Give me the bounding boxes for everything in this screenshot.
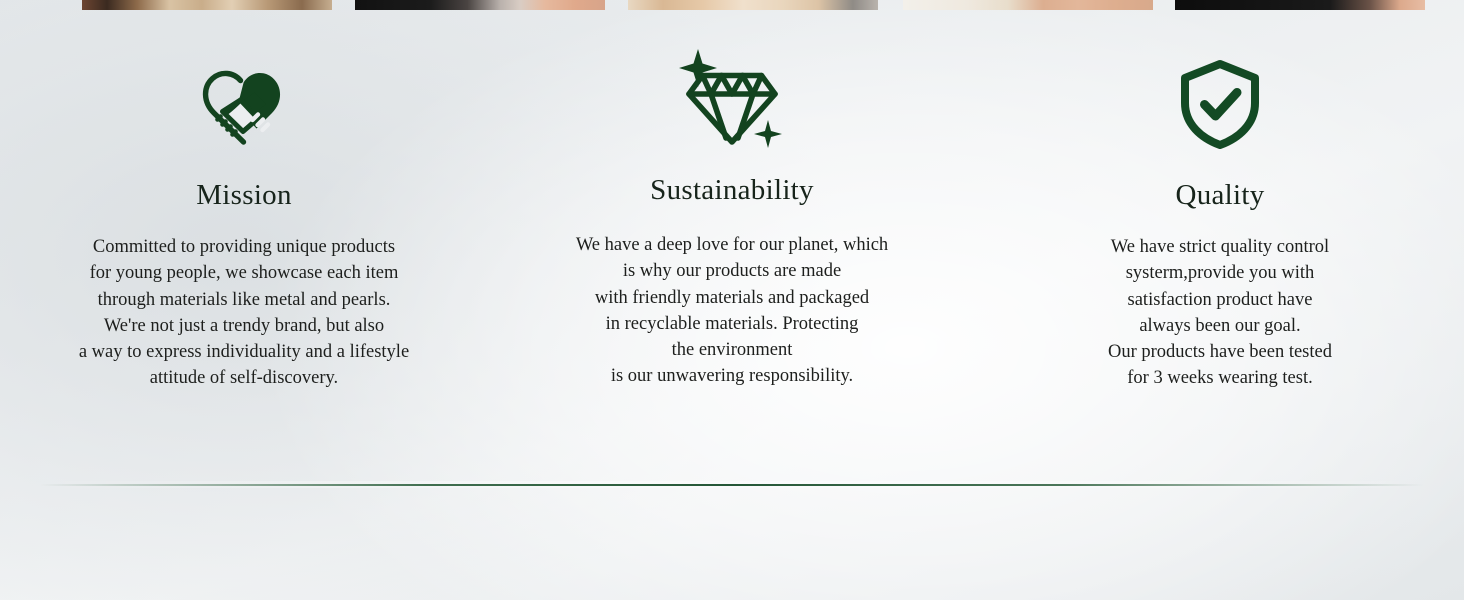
product-photo-strip: [0, 0, 1464, 12]
product-photo-thumbnail-5[interactable]: [1175, 0, 1425, 10]
product-photo-3: [628, 0, 878, 10]
product-photo-5: [1175, 0, 1425, 10]
product-photo-4: [903, 0, 1153, 10]
product-photo-thumbnail-2[interactable]: [355, 0, 605, 10]
feature-title: Mission: [196, 181, 292, 210]
section-divider: [40, 484, 1424, 486]
about-features-section: Mission Committed to providing unique pr…: [0, 0, 1464, 600]
handshake-heart-icon: [196, 54, 292, 154]
product-photo-thumbnail-1[interactable]: [82, 0, 332, 10]
diamond-sparkle-icon: [676, 50, 788, 150]
feature-card-sustainability: Sustainability We have a deep love for o…: [488, 52, 976, 392]
feature-description: We have a deep love for our planet, whic…: [576, 232, 888, 390]
product-photo-2: [355, 0, 605, 10]
product-photo-thumbnail-4[interactable]: [903, 0, 1153, 10]
product-photo-thumbnail-3[interactable]: [628, 0, 878, 10]
shield-check-icon: [1177, 54, 1263, 154]
feature-title: Quality: [1175, 181, 1264, 210]
feature-card-quality: Quality We have strict quality control s…: [976, 52, 1464, 392]
feature-columns: Mission Committed to providing unique pr…: [0, 52, 1464, 392]
feature-description: We have strict quality control systerm,p…: [1108, 234, 1332, 392]
feature-card-mission: Mission Committed to providing unique pr…: [0, 52, 488, 392]
product-photo-1: [82, 0, 332, 10]
feature-title: Sustainability: [650, 176, 814, 205]
feature-description: Committed to providing unique products f…: [79, 234, 409, 392]
